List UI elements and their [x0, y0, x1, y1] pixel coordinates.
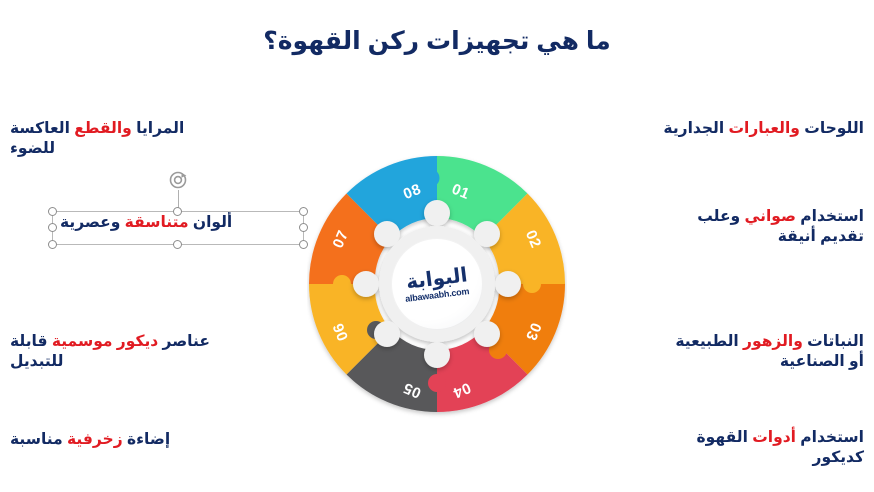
resize-handle-top-left[interactable]	[48, 207, 57, 216]
label-03-seg-b: والزهور	[743, 333, 803, 350]
label-item-01[interactable]: اللوحات والعبارات الجدارية	[534, 119, 864, 139]
label-item-07[interactable]: ألوان متناسقة وعصرية	[60, 213, 300, 233]
label-07-seg-b: متناسقة	[125, 214, 189, 231]
label-04-seg-c: القهوة	[697, 429, 753, 446]
label-02-seg-b: صواني	[744, 208, 796, 225]
label-01-seg-a: اللوحات	[800, 120, 864, 137]
label-03-seg-c: الطبيعية	[675, 333, 743, 350]
label-07-seg-c: وعصرية	[60, 214, 125, 231]
label-05-seg-b: زخرفية	[67, 431, 123, 448]
label-05-seg-a: إضاءة	[123, 431, 171, 448]
label-03-seg-a: النباتات	[803, 333, 864, 350]
label-01-seg-b: والعبارات	[724, 120, 800, 137]
label-08-seg-c: العاكسة	[10, 120, 74, 137]
label-03-line2: أو الصناعية	[780, 353, 864, 370]
label-04-line2: كديكور	[813, 449, 864, 466]
label-05-seg-c: مناسبة	[10, 431, 67, 448]
label-08-line2: للضوء	[10, 140, 55, 157]
label-01-seg-c: الجدارية	[663, 120, 724, 137]
rotate-handle-stem	[178, 190, 179, 212]
label-06-line2: للتبديل	[10, 353, 63, 370]
label-item-06[interactable]: عناصر ديكور موسمية قابلة للتبديل	[10, 332, 330, 373]
label-08-seg-b: والقطع	[74, 120, 132, 137]
label-04-seg-b: أدوات	[752, 429, 796, 446]
label-02-line2: تقديم أنيقة	[778, 228, 864, 245]
label-02-seg-c: وعلب	[697, 208, 744, 225]
label-item-04[interactable]: استخدام أدوات القهوة كديكور	[534, 428, 864, 469]
rotate-icon[interactable]	[168, 170, 188, 190]
puzzle-wheel[interactable]: 01 02 03 04	[307, 134, 567, 434]
page-title: ما هي تجهيزات ركن القهوة؟	[0, 26, 874, 56]
resize-handle-bottom-center[interactable]	[173, 240, 182, 249]
label-06-seg-b: ديكور موسمية	[52, 333, 158, 350]
label-item-08[interactable]: المرايا والقطع العاكسة للضوء	[10, 119, 330, 160]
label-02-seg-a: استخدام	[796, 208, 864, 225]
label-06-seg-a: عناصر	[158, 333, 210, 350]
label-item-05[interactable]: إضاءة زخرفية مناسبة	[10, 430, 340, 450]
label-08-seg-a: المرايا	[132, 120, 184, 137]
label-item-02[interactable]: استخدام صواني وعلب تقديم أنيقة	[534, 207, 864, 248]
label-item-03[interactable]: النباتات والزهور الطبيعية أو الصناعية	[534, 332, 864, 373]
label-06-seg-c: قابلة	[10, 333, 52, 350]
center-logo: البوابة albawaabh.com	[391, 238, 483, 330]
label-07-seg-a: ألوان	[189, 214, 233, 231]
resize-handle-bottom-left[interactable]	[48, 240, 57, 249]
infographic-canvas: ما هي تجهيزات ركن القهوة؟ 01	[0, 0, 874, 492]
resize-handle-middle-left[interactable]	[48, 223, 57, 232]
label-04-seg-a: استخدام	[796, 429, 864, 446]
